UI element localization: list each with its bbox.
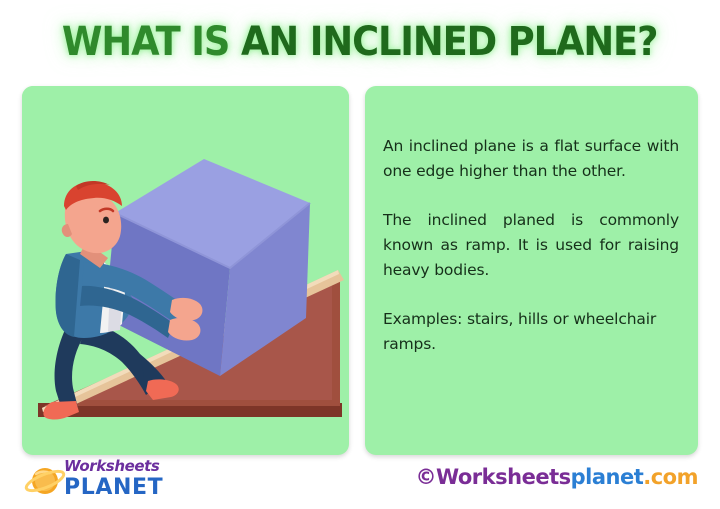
paragraph-definition: An inclined plane is a flat surface with… — [383, 134, 679, 184]
description-text: An inclined plane is a flat surface with… — [383, 134, 679, 357]
paragraph-examples: Examples: stairs, hills or wheelchair ra… — [383, 307, 679, 357]
page-title-part2: AN INCLINED PLANE? — [241, 19, 657, 65]
page-title-part1: WHAT IS — [62, 19, 241, 65]
worksheets-planet-logo[interactable]: Worksheets PLANET — [24, 458, 214, 504]
planet-icon — [24, 462, 66, 500]
man-pushing-block-up-inclined-plane-illustration — [22, 86, 349, 426]
logo-wordmark: Worksheets PLANET — [64, 458, 163, 499]
watermark-part-worksheets: ©Worksheets — [415, 465, 570, 489]
watermark-part-planet: planet — [571, 465, 644, 489]
page-title: WHAT IS AN INCLINED PLANE? — [0, 16, 720, 68]
paragraph-ramp: The inclined planed is commonly known as… — [383, 208, 679, 283]
logo-line-worksheets: Worksheets — [64, 458, 163, 475]
watermark-part-com: .com — [643, 465, 698, 489]
illustration-panel — [22, 86, 349, 455]
copyright-watermark[interactable]: ©Worksheetsplanet.com — [415, 464, 698, 490]
logo-line-planet: PLANET — [64, 476, 163, 499]
man-eye — [103, 217, 109, 224]
page-title-text: WHAT IS AN INCLINED PLANE? — [62, 16, 657, 68]
description-panel: An inclined plane is a flat surface with… — [365, 86, 698, 455]
